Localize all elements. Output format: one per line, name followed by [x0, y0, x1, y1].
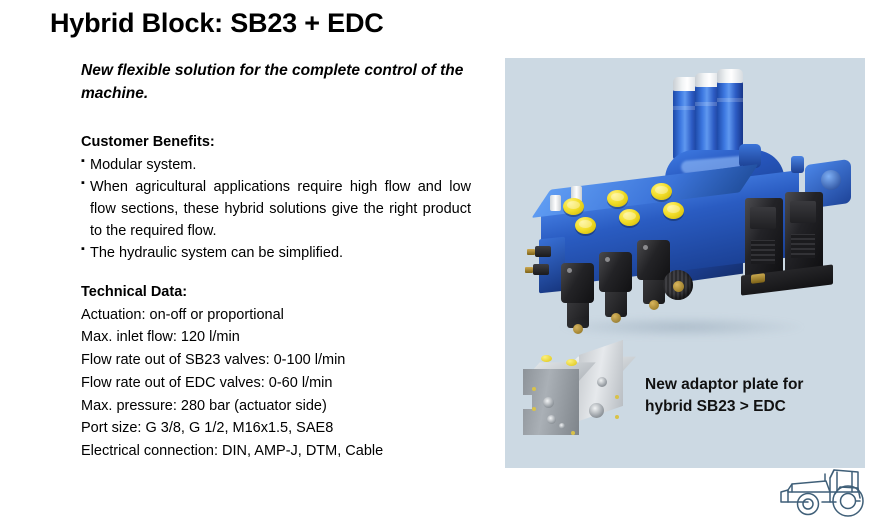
plate-bore [543, 397, 554, 408]
left-connector [533, 264, 549, 275]
yellow-cap-icon [663, 202, 684, 219]
edc-brass-fitting [751, 273, 765, 284]
caption-line-1: New adaptor plate for [645, 374, 855, 396]
solenoid-coil-icon [637, 240, 670, 280]
list-item: Flow rate out of SB23 valves: 0-100 l/mi… [81, 349, 471, 372]
plate-yellow-plug-icon [566, 359, 577, 366]
list-item: Max. pressure: 280 bar (actuator side) [81, 395, 471, 418]
list-item: Port size: G 3/8, G 1/2, M16x1.5, SAE8 [81, 417, 471, 440]
plate-screw-dot [532, 407, 536, 411]
section-spacer [81, 264, 471, 282]
tractor-icon [778, 468, 882, 518]
photo-shadow [557, 316, 807, 338]
plate-screw-dot [615, 395, 619, 399]
solenoid-nut [649, 300, 659, 310]
list-item: Electrical connection: DIN, AMP-J, DTM, … [81, 440, 471, 463]
port-ring [821, 170, 841, 190]
plate-bore [597, 377, 607, 387]
content-column: New flexible solution for the complete c… [81, 60, 471, 463]
list-item: Modular system. [81, 154, 471, 176]
edc-valve-section [785, 192, 823, 276]
plate-screw-dot [615, 415, 619, 419]
adaptor-plate-render [519, 345, 639, 443]
yellow-cap-icon [651, 183, 672, 200]
caption-line-2: hybrid SB23 > EDC [645, 396, 855, 418]
list-item: When agricultural applications require h… [81, 176, 471, 242]
list-item: Max. inlet flow: 120 l/min [81, 326, 471, 349]
customer-benefits-list: Modular system. When agricultural applic… [81, 154, 471, 264]
brass-fitting-icon [527, 249, 535, 255]
plate-bore [547, 415, 556, 424]
plate-yellow-plug-icon [541, 355, 552, 362]
solenoid-coil-icon [599, 252, 632, 292]
plate-bore [589, 403, 604, 418]
list-item: Actuation: on-off or proportional [81, 304, 471, 327]
yellow-cap-icon [575, 217, 596, 234]
port-small [791, 156, 804, 173]
lead-statement: New flexible solution for the complete c… [81, 60, 466, 106]
technical-data-heading: Technical Data: [81, 282, 471, 304]
technical-data-list: Actuation: on-off or proportional Max. i… [81, 304, 471, 463]
yellow-cap-icon [607, 190, 628, 207]
plate-screw-dot [571, 431, 575, 435]
yellow-cap-icon [619, 209, 640, 226]
solenoid-coil-icon [561, 263, 594, 303]
white-plug-icon [550, 195, 561, 211]
adaptor-plate-caption: New adaptor plate for hybrid SB23 > EDC [645, 374, 855, 418]
page-title: Hybrid Block: SB23 + EDC [50, 8, 384, 39]
edc-valve-section [745, 198, 783, 282]
plate-screw-dot [532, 387, 536, 391]
brass-fitting-icon [525, 267, 533, 273]
list-item: Flow rate out of EDC valves: 0-60 l/min [81, 372, 471, 395]
plate-bore [559, 423, 565, 429]
relief-cylinder-icon [717, 80, 743, 152]
plate-notch [523, 395, 532, 409]
left-connector [535, 246, 551, 257]
product-image-panel: New adaptor plate for hybrid SB23 > EDC [505, 58, 865, 468]
knurled-adjuster-icon [663, 270, 693, 300]
yellow-cap-icon [563, 198, 584, 215]
hybrid-valve-block-photo [505, 58, 865, 348]
customer-benefits-heading: Customer Benefits: [81, 132, 471, 154]
list-item: The hydraulic system can be simplified. [81, 242, 471, 264]
